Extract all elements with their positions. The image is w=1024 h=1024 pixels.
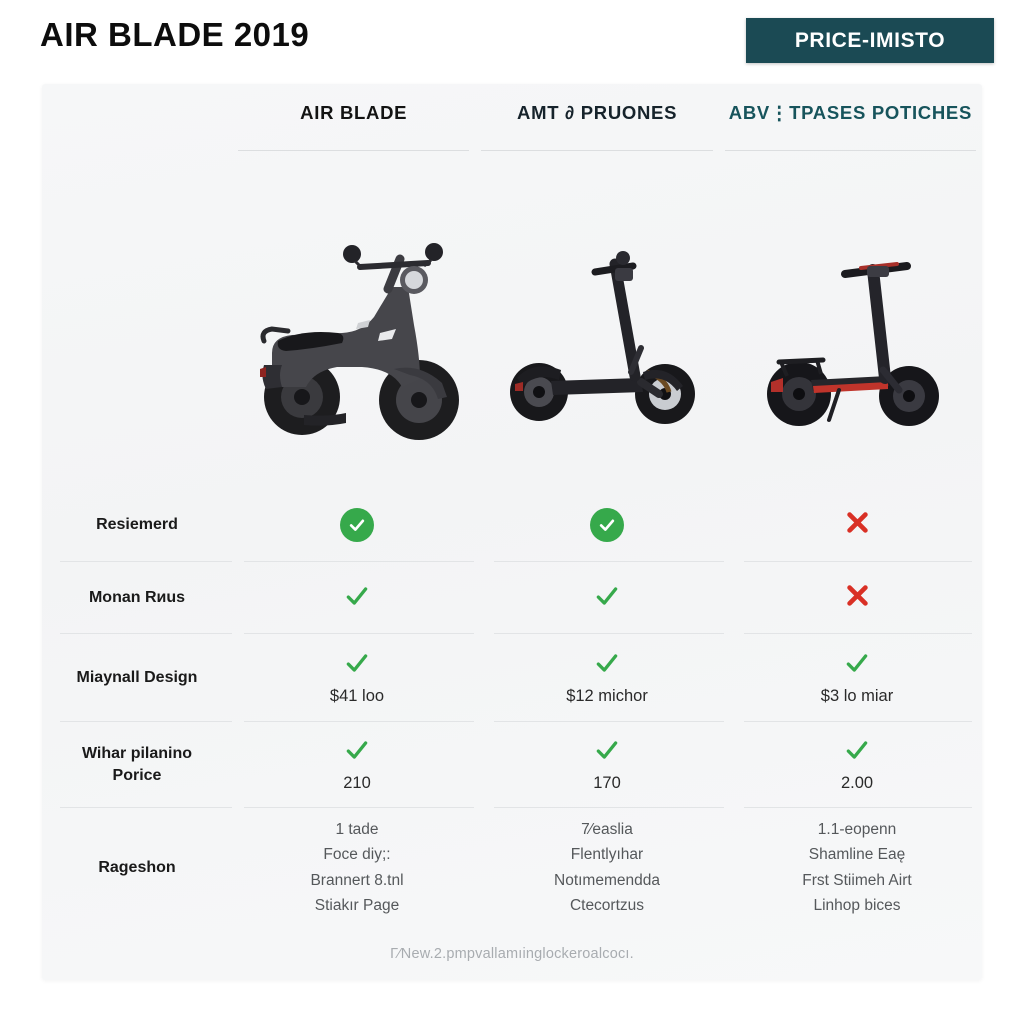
column-header-air-blade[interactable]: AIR BLADE — [232, 102, 475, 166]
cell-value: $3 lo miar — [821, 687, 893, 706]
value-cell: 7⁄easlia Flentlyıhar Notımemendda Ctecor… — [482, 808, 732, 928]
check-icon — [594, 737, 620, 768]
comparison-grid: AIR BLADE AMT ∂ PRUONES ABV⋮TPASES POTIC… — [42, 84, 982, 980]
value-cell: 2.00 — [732, 722, 982, 808]
note-line: Linhop bices — [813, 896, 900, 916]
value-cell — [232, 562, 482, 634]
product-image-cell-1 — [482, 204, 732, 484]
note-line: 7⁄easlia — [581, 820, 633, 840]
cross-icon — [844, 509, 871, 541]
check-icon — [844, 737, 870, 768]
row-label-column-spacer — [42, 204, 232, 484]
price-brand-badge[interactable]: PRICE-IMISTO — [746, 18, 994, 63]
product-image-cell-2 — [732, 204, 982, 484]
check-icon — [844, 650, 870, 681]
value-cell: 170 — [482, 722, 732, 808]
column-header-label: AIR BLADE — [300, 102, 407, 124]
value-cell — [232, 488, 482, 562]
note-line: Ctecortzus — [570, 896, 644, 916]
note-line: Brannert 8.tnl — [310, 871, 403, 891]
comparison-card: AIR BLADE AMT ∂ PRUONES ABV⋮TPASES POTIC… — [42, 84, 982, 980]
value-cell: $12 michor — [482, 634, 732, 722]
note-list: 7⁄easlia Flentlyıhar Notımemendda Ctecor… — [554, 820, 660, 917]
note-line: Shamline Eaę — [809, 845, 906, 865]
column-header-label: ABV⋮TPASES POTICHES — [729, 102, 972, 124]
row-label: Rageshon — [42, 808, 232, 928]
electric-scooter-red-trim-icon — [757, 244, 957, 444]
value-cell — [732, 488, 982, 562]
check-icon — [344, 737, 370, 768]
value-cell — [732, 562, 982, 634]
check-icon — [344, 650, 370, 681]
note-line: Frst Stiimeh Airt — [802, 871, 911, 891]
table-row: Wihar pilanino Porice 210 170 — [42, 722, 982, 808]
cell-value: $41 loo — [330, 687, 384, 706]
check-circle-icon — [590, 508, 624, 542]
feature-rows: Resiemerd — [42, 488, 982, 928]
column-header-underline — [481, 150, 712, 151]
check-icon — [594, 650, 620, 681]
note-line: Flentlyıhar — [571, 845, 643, 865]
value-cell: 1.1-eopenn Shamline Eaę Frst Stiimeh Air… — [732, 808, 982, 928]
product-image-row — [42, 204, 982, 484]
row-label-column-spacer — [42, 102, 232, 166]
cross-icon — [844, 582, 871, 614]
row-label: Miaynall Design — [42, 634, 232, 722]
value-cell — [482, 562, 732, 634]
value-cell: $3 lo miar — [732, 634, 982, 722]
value-cell: $41 loo — [232, 634, 482, 722]
note-line: 1.1-eopenn — [818, 820, 896, 840]
motor-scooter-icon — [242, 237, 472, 452]
top-bar: AIR BLADE 2019 PRICE-IMISTO — [0, 0, 1024, 84]
table-row: Miaynall Design $41 loo $12 michor — [42, 634, 982, 722]
product-image-cell-0 — [232, 204, 482, 484]
page-title: AIR BLADE 2019 — [40, 16, 309, 54]
cell-value: 170 — [593, 774, 621, 793]
cell-value: 2.00 — [841, 774, 873, 793]
column-header-abvtpases-potiches[interactable]: ABV⋮TPASES POTICHES — [719, 102, 982, 166]
value-cell: 1 tade Foce diy;: Brannert 8.tnl Stiakır… — [232, 808, 482, 928]
table-row: Resiemerd — [42, 488, 982, 562]
table-row: Monan Rиus — [42, 562, 982, 634]
row-label: Wihar pilanino Porice — [42, 722, 232, 808]
value-cell — [482, 488, 732, 562]
note-line: Notımemendda — [554, 871, 660, 891]
column-header-row: AIR BLADE AMT ∂ PRUONES ABV⋮TPASES POTIC… — [42, 102, 982, 166]
electric-kick-scooter-icon — [507, 244, 707, 444]
column-header-amt-pruones[interactable]: AMT ∂ PRUONES — [475, 102, 718, 166]
note-line: Stiakır Page — [315, 896, 399, 916]
check-icon — [344, 583, 370, 614]
card-footnote: Г⁄New.2.pmpvallamıinglockeroalcocı. — [42, 946, 982, 962]
note-list: 1.1-eopenn Shamline Eaę Frst Stiimeh Air… — [802, 820, 911, 917]
column-header-underline — [238, 150, 469, 151]
note-list: 1 tade Foce diy;: Brannert 8.tnl Stiakır… — [310, 820, 403, 917]
note-line: Foce diy;: — [323, 845, 390, 865]
column-header-label: AMT ∂ PRUONES — [517, 102, 677, 124]
note-line: 1 tade — [335, 820, 378, 840]
check-circle-icon — [340, 508, 374, 542]
value-cell: 210 — [232, 722, 482, 808]
row-label: Resiemerd — [42, 488, 232, 562]
column-header-underline — [725, 150, 976, 151]
table-row: Rageshon 1 tade Foce diy;: Brannert 8.tn… — [42, 808, 982, 928]
check-icon — [594, 583, 620, 614]
row-label: Monan Rиus — [42, 562, 232, 634]
cell-value: $12 michor — [566, 687, 648, 706]
cell-value: 210 — [343, 774, 371, 793]
